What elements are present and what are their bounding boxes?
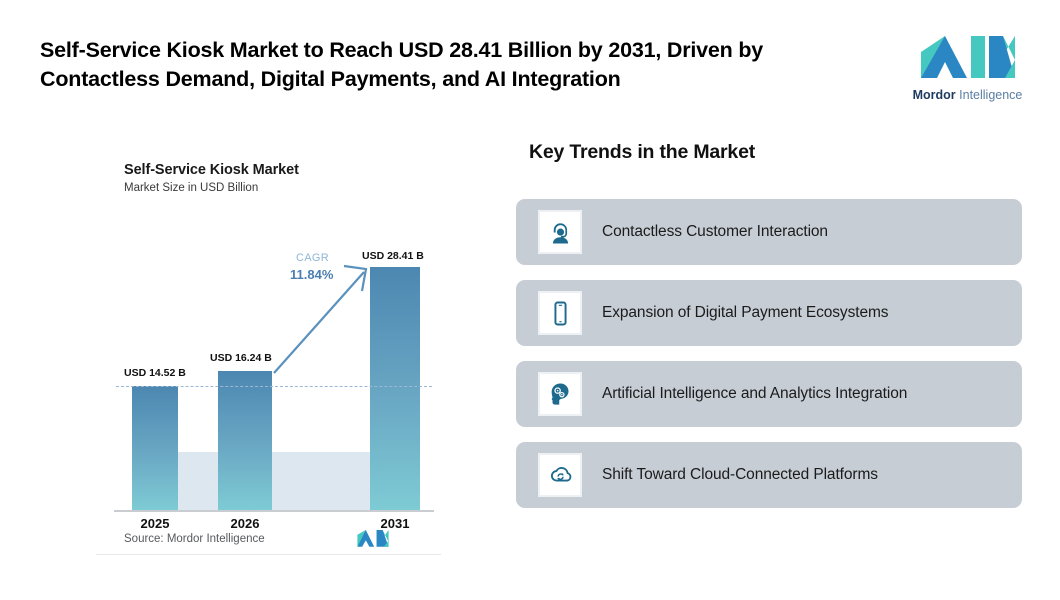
mordor-m-logo-small-icon	[355, 528, 391, 550]
trend-card-shift-toward-cloud-connected-platforms[interactable]: Shift Toward Cloud-Connected Platforms	[516, 442, 1022, 508]
brand-logo: Mordor Intelligence	[905, 30, 1030, 108]
trend-card-artificial-intelligence-and-analytics-integration[interactable]: Artificial Intelligence and Analytics In…	[516, 361, 1022, 427]
head-gears-icon	[538, 372, 582, 416]
trend-card-label: Shift Toward Cloud-Connected Platforms	[602, 442, 1006, 508]
mordor-m-logo-icon	[905, 30, 1030, 85]
chart-source-label: Source: Mordor Intelligence	[124, 533, 265, 545]
brand-logo-text: Mordor Intelligence	[905, 88, 1030, 102]
brand-name-light: Intelligence	[956, 88, 1023, 102]
chart-x-axis	[114, 510, 434, 512]
chart-subtitle: Market Size in USD Billion	[124, 182, 258, 194]
smartphone-icon	[538, 291, 582, 335]
trend-card-expansion-of-digital-payment-ecosystems[interactable]: Expansion of Digital Payment Ecosystems	[516, 280, 1022, 346]
trend-card-contactless-customer-interaction[interactable]: Contactless Customer Interaction	[516, 199, 1022, 265]
trend-card-label: Artificial Intelligence and Analytics In…	[602, 361, 1006, 427]
chart-xtick-2026: 2026	[218, 516, 272, 531]
trend-card-label: Expansion of Digital Payment Ecosystems	[602, 280, 1006, 346]
brand-name-bold: Mordor	[913, 88, 956, 102]
trends-card-list: Contactless Customer Interaction Expansi…	[516, 199, 1022, 523]
chart-xtick-2025: 2025	[132, 516, 178, 531]
chart-plot-area: USD 14.52 B USD 16.24 B USD 28.41 B CAGR…	[124, 240, 424, 510]
trend-card-label: Contactless Customer Interaction	[602, 199, 1006, 265]
trends-section-title: Key Trends in the Market	[529, 141, 755, 164]
cloud-sync-icon	[538, 453, 582, 497]
page-header: Self-Service Kiosk Market to Reach USD 2…	[0, 0, 1060, 120]
chart-growth-arrow-icon	[124, 240, 424, 510]
page-title: Self-Service Kiosk Market to Reach USD 2…	[40, 36, 870, 94]
headset-person-icon	[538, 210, 582, 254]
chart-panel: Self-Service Kiosk Market Market Size in…	[96, 140, 441, 555]
chart-title: Self-Service Kiosk Market	[124, 162, 299, 178]
